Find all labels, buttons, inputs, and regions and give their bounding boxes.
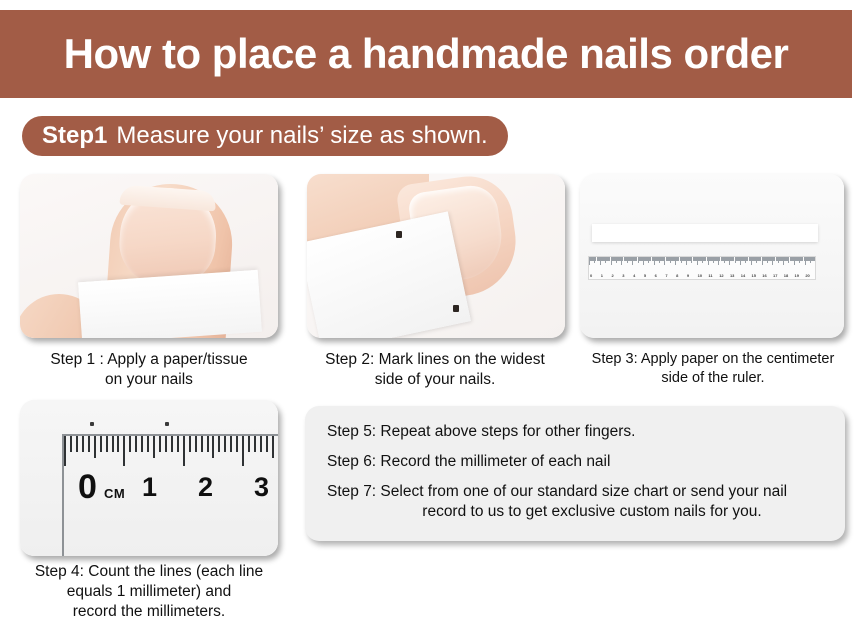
caption-step3: Step 3: Apply paper on the centimeter si…: [572, 350, 854, 387]
photo-card-step3: 01234567891011121314151617181920: [580, 174, 844, 338]
step1-banner: Step1 Measure your nails’ size as shown.: [22, 116, 508, 156]
ruler-number: 14: [740, 273, 751, 278]
ruler-tick: [814, 257, 815, 261]
step-7-block: Step 7: Select from one of our standard …: [327, 482, 823, 522]
header-banner: How to place a handmade nails order: [0, 10, 852, 98]
caption-step2: Step 2: Mark lines on the widest side of…: [296, 350, 574, 390]
paper-strip-shape: [78, 270, 262, 338]
paper-strip-shape: [592, 224, 818, 242]
ruler-number: 3: [621, 273, 632, 278]
ruler-millimeter-ticks: [64, 436, 278, 466]
caption-step4: Step 4: Count the lines (each line equal…: [8, 562, 290, 621]
photo-card-step4: 0 CM 1 2 3: [20, 400, 278, 556]
caption-step2-line1: Step 2: Mark lines on the widest: [296, 350, 574, 370]
ruler-label-three: 3: [254, 472, 269, 503]
ruler-number: 19: [794, 273, 805, 278]
photo-marked-paper: [307, 174, 565, 338]
ruler-number: 8: [675, 273, 686, 278]
step1-banner-text: Measure your nails’ size as shown.: [116, 122, 487, 150]
caption-step4-line3: record the millimeters.: [8, 602, 290, 622]
ruler-label-one: 1: [142, 472, 157, 503]
ruler-number: 10: [697, 273, 708, 278]
ruler-number: 0: [589, 273, 600, 278]
ruler-number-labels: 01234567891011121314151617181920: [589, 273, 815, 278]
caption-step2-line2: side of your nails.: [296, 370, 574, 390]
ruler-label-two: 2: [198, 472, 213, 503]
ruler-number: 17: [772, 273, 783, 278]
ruler-number: 1: [600, 273, 611, 278]
ruler-number: 6: [654, 273, 665, 278]
caption-step4-line2: equals 1 millimeter) and: [8, 582, 290, 602]
ruler-number: 12: [718, 273, 729, 278]
photo-paper-on-ruler: 01234567891011121314151617181920: [580, 174, 844, 338]
photo-ruler-closeup: 0 CM 1 2 3: [20, 400, 278, 556]
ruler-number: 16: [761, 273, 772, 278]
ruler-number: 18: [783, 273, 794, 278]
step-7-line2: record to us to get exclusive custom nai…: [327, 502, 823, 522]
caption-step1-line2: on your nails: [10, 370, 288, 390]
step1-banner-bold-label: Step1: [42, 122, 107, 150]
caption-step1-line1: Step 1 : Apply a paper/tissue: [10, 350, 288, 370]
ruler-number: 11: [707, 273, 718, 278]
ruler-tick-marks: [589, 257, 815, 265]
ruler-number: 7: [664, 273, 675, 278]
step-6-text: Step 6: Record the millimeter of each na…: [327, 452, 823, 472]
ruler-number: 2: [611, 273, 622, 278]
paper-mark-right: [165, 422, 169, 426]
ruler-tick: [272, 436, 278, 458]
caption-step3-line2: side of the ruler.: [572, 369, 854, 388]
ruler-label-unit: CM: [104, 486, 125, 501]
ruler-number: 5: [643, 273, 654, 278]
paper-mark-left: [90, 422, 94, 426]
step-7-line1: Step 7: Select from one of our standard …: [327, 483, 787, 500]
ruler-number: 15: [750, 273, 761, 278]
pen-mark-top: [396, 231, 402, 238]
pen-mark-bottom: [453, 305, 459, 312]
ruler-shape: 01234567891011121314151617181920: [588, 256, 816, 280]
caption-step1: Step 1 : Apply a paper/tissue on your na…: [10, 350, 288, 390]
ruler-label-zero: 0: [78, 468, 97, 507]
photo-thumb-with-paper: [20, 174, 278, 338]
page-title: How to place a handmade nails order: [64, 30, 789, 78]
photo-card-step2: [307, 174, 565, 338]
step-5-text: Step 5: Repeat above steps for other fin…: [327, 422, 823, 442]
ruler-number: 4: [632, 273, 643, 278]
ruler-number: 13: [729, 273, 740, 278]
ruler-number: 20: [804, 273, 815, 278]
caption-step4-line1: Step 4: Count the lines (each line: [8, 562, 290, 582]
ruler-number: 9: [686, 273, 697, 278]
steps-5-to-7-card: Step 5: Repeat above steps for other fin…: [305, 406, 845, 541]
caption-step3-line1: Step 3: Apply paper on the centimeter: [572, 350, 854, 369]
photo-card-step1: [20, 174, 278, 338]
